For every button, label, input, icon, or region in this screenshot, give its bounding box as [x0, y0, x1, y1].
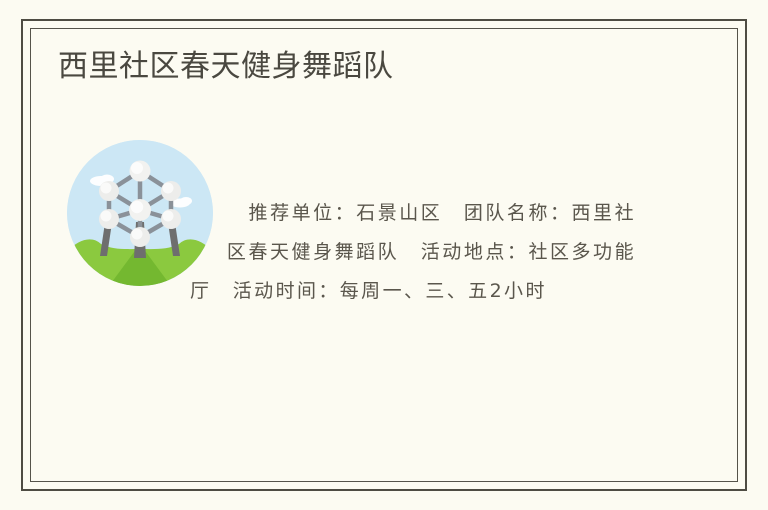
page-container: 西里社区春天健身舞蹈队 — [0, 0, 768, 510]
page-title: 西里社区春天健身舞蹈队 — [58, 48, 636, 86]
content-area: 西里社区春天健身舞蹈队 — [58, 48, 636, 456]
atomium-monument-illustration-icon — [67, 140, 213, 286]
